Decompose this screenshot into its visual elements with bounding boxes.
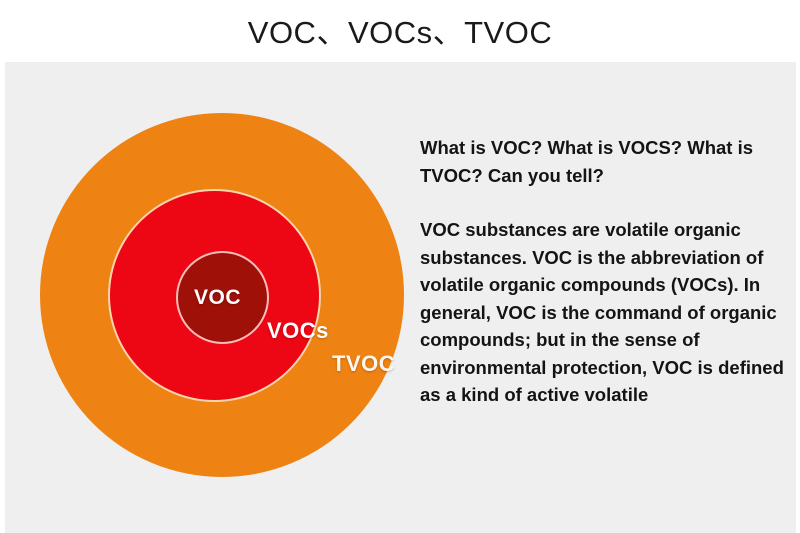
ring-label-tvoc: TVOC	[332, 351, 395, 376]
body-paragraph: VOC substances are volatile organic subs…	[420, 216, 790, 409]
slide: VOC、VOCs、TVOC VOC VOCs TVOC What is VOC?…	[0, 0, 800, 533]
text-column: What is VOC? What is VOCS? What is TVOC?…	[420, 134, 790, 409]
content-panel: VOC VOCs TVOC What is VOC? What is VOCS?…	[5, 62, 796, 533]
ring-label-voc: VOC	[194, 286, 241, 310]
page-title: VOC、VOCs、TVOC	[0, 14, 800, 52]
ring-label-vocs: VOCs	[267, 318, 329, 343]
title-band: VOC、VOCs、TVOC	[0, 0, 800, 62]
concentric-venn-diagram: VOC VOCs TVOC	[5, 62, 425, 533]
question-paragraph: What is VOC? What is VOCS? What is TVOC?…	[420, 134, 790, 189]
